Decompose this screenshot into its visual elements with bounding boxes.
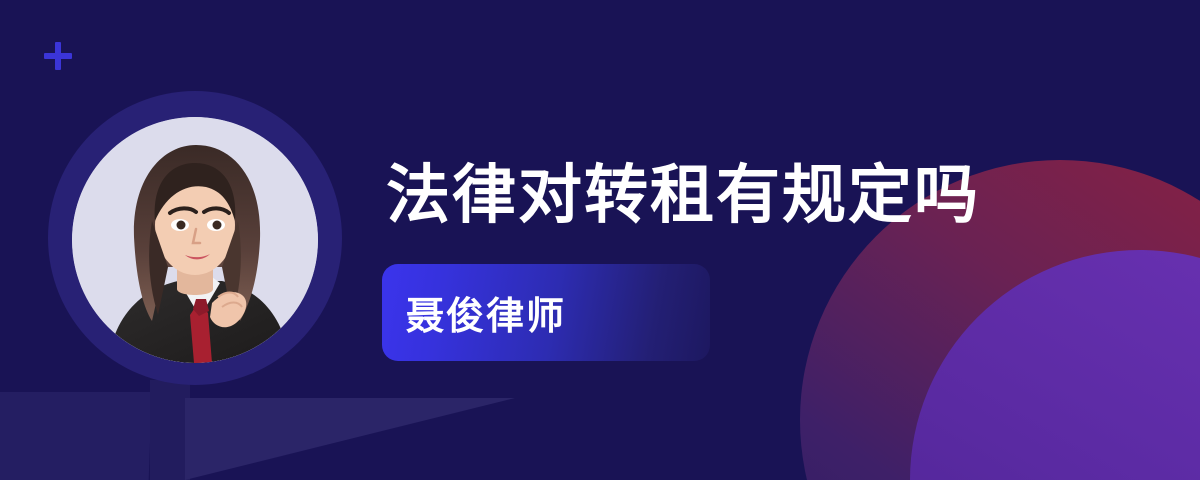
plus-icon — [44, 42, 72, 70]
page-title: 法律对转租有规定吗 — [386, 160, 980, 230]
avatar — [48, 91, 342, 385]
presenter-name-badge: 聂俊律师 — [382, 264, 710, 361]
decorative-band — [0, 392, 152, 480]
presenter-name-label: 聂俊律师 — [382, 285, 566, 340]
decorative-circle-purple — [910, 250, 1200, 480]
decorative-triangle — [185, 398, 515, 480]
video-cover-banner: 法律对转租有规定吗 聂俊律师 — [0, 0, 1200, 480]
decorative-block — [150, 380, 190, 480]
avatar-portrait-icon — [72, 117, 318, 363]
